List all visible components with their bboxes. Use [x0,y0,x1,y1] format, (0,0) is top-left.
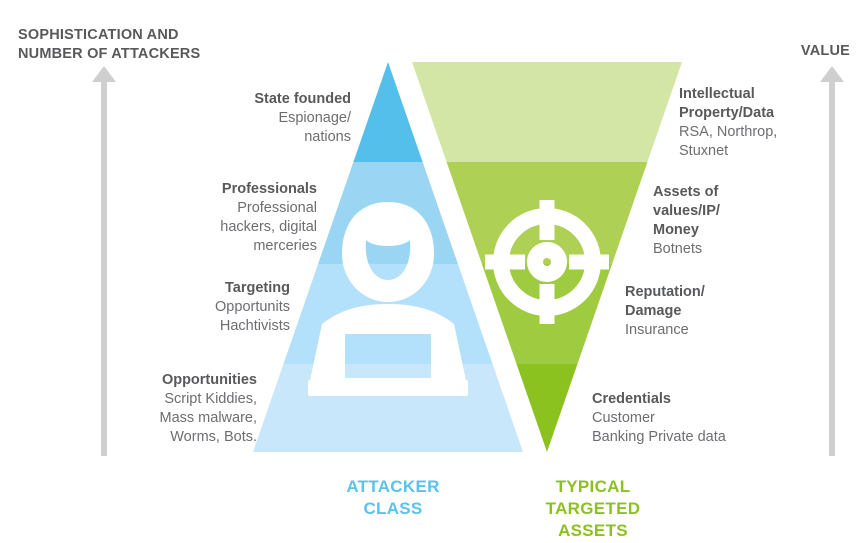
caption-line: CLASS [303,498,483,520]
label-assets-of-value: Assets of values/IP/ Money Botnets [653,183,853,259]
label-line: Mass malware, [0,409,257,428]
label-line: Espionage/ [91,109,351,128]
label-professionals: Professionals Professional hackers, digi… [57,180,317,256]
label-title: values/IP/ [653,202,853,221]
label-title: Damage [625,302,835,321]
label-title: Targeting [30,279,290,298]
label-reputation-damage: Reputation/ Damage Insurance [625,283,835,340]
label-line: Insurance [625,321,835,340]
label-line: Botnets [653,240,853,259]
label-title: Intellectual [679,85,859,104]
band-assets-of-value [412,162,682,264]
label-targeting: Targeting Opportunits Hachtivists [30,279,290,336]
arrow-head [92,66,116,82]
label-opportunities: Opportunities Script Kiddies, Mass malwa… [0,371,257,447]
caption-attacker-class: ATTACKER CLASS [303,476,483,520]
label-title: Money [653,221,853,240]
caption-typical-targeted-assets: TYPICAL TARGETED ASSETS [498,476,688,542]
caption-line: TARGETED [498,498,688,520]
label-line: Customer [592,409,842,428]
diagram-canvas: SOPHISTICATION AND NUMBER OF ATTACKERS V… [0,0,864,543]
label-title: Opportunities [0,371,257,390]
right-axis-heading-label: VALUE [801,42,850,61]
label-line: Worms, Bots. [0,428,257,447]
right-axis-heading: VALUE [801,42,850,61]
left-axis-heading-line1: SOPHISTICATION AND [18,26,200,45]
label-title: Reputation/ [625,283,835,302]
label-credentials: Credentials Customer Banking Private dat… [592,390,842,447]
label-title: Assets of [653,183,853,202]
label-title: Credentials [592,390,842,409]
label-title: State founded [91,90,351,109]
caption-line: ATTACKER [303,476,483,498]
left-axis-heading-line2: NUMBER OF ATTACKERS [18,45,200,64]
label-line: merceries [57,237,317,256]
label-line: hackers, digital [57,218,317,237]
caption-line: TYPICAL [498,476,688,498]
label-line: Stuxnet [679,142,859,161]
label-line: Opportunits [30,298,290,317]
label-line: Script Kiddies, [0,390,257,409]
label-title: Professionals [57,180,317,199]
band-intellectual-property [412,62,682,162]
label-line: Professional [57,199,317,218]
caption-line: ASSETS [498,520,688,542]
label-line: Banking Private data [592,428,842,447]
label-line: RSA, Northrop, [679,123,859,142]
left-axis-heading: SOPHISTICATION AND NUMBER OF ATTACKERS [18,26,200,64]
label-state-founded: State founded Espionage/ nations [91,90,351,147]
arrow-head [820,66,844,82]
label-line: Hachtivists [30,317,290,336]
label-line: nations [91,128,351,147]
label-title: Property/Data [679,104,859,123]
label-intellectual-property: Intellectual Property/Data RSA, Northrop… [679,85,859,161]
